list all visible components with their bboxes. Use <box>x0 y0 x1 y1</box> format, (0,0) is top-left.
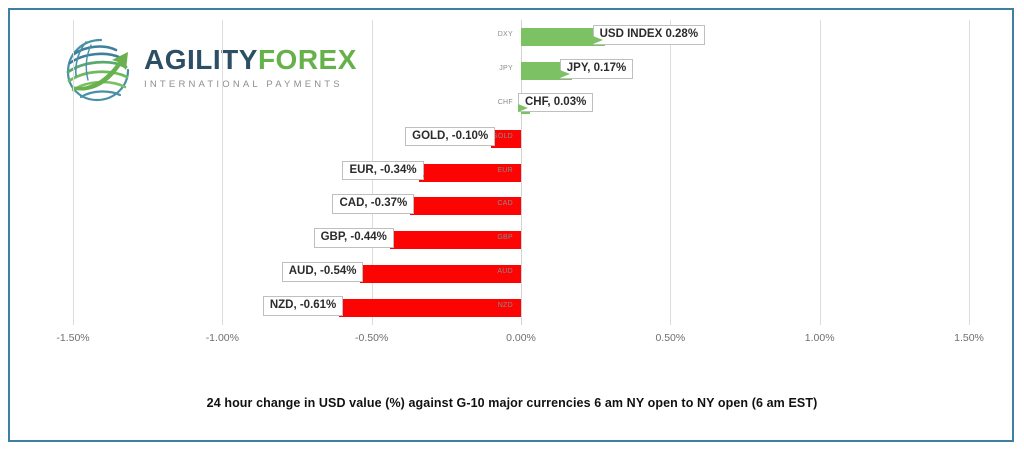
chart-row: EUREUR, -0.34% <box>73 156 969 190</box>
category-label-eur: EUR <box>473 167 513 174</box>
x-tick-label: 0.00% <box>506 332 536 344</box>
x-tick-label: -1.50% <box>56 332 89 344</box>
bar-chart: DXYUSD INDEX 0.28%JPYJPY, 0.17%CHFCHF, 0… <box>0 0 1024 452</box>
x-tick-label: 0.50% <box>655 332 685 344</box>
data-label-chf: CHF, 0.03% <box>518 93 593 113</box>
chart-row: NZDNZD, -0.61% <box>73 291 969 325</box>
x-tick-label: -0.50% <box>355 332 388 344</box>
data-label-cad: CAD, -0.37% <box>332 194 414 214</box>
x-axis: -1.50%-1.00%-0.50%0.00%0.50%1.00%1.50% <box>73 328 969 350</box>
chart-row: CADCAD, -0.37% <box>73 189 969 223</box>
chart-row: GOLDGOLD, -0.10% <box>73 122 969 156</box>
chart-row: JPYJPY, 0.17% <box>73 54 969 88</box>
data-label-eur: EUR, -0.34% <box>342 161 423 181</box>
category-label-aud: AUD <box>473 268 513 275</box>
plot-area: DXYUSD INDEX 0.28%JPYJPY, 0.17%CHFCHF, 0… <box>73 20 969 325</box>
x-tick-label: 1.00% <box>805 332 835 344</box>
chart-row: CHFCHF, 0.03% <box>73 88 969 122</box>
chart-row: DXYUSD INDEX 0.28% <box>73 20 969 54</box>
gridline <box>969 20 970 325</box>
data-label-jpy: JPY, 0.17% <box>560 59 633 79</box>
category-label-cad: CAD <box>473 200 513 207</box>
chart-caption: 24 hour change in USD value (%) against … <box>0 396 1024 410</box>
chart-row: GBPGBP, -0.44% <box>73 223 969 257</box>
x-tick-label: -1.00% <box>206 332 239 344</box>
chart-screenshot: AGILITYFOREX INTERNATIONAL PAYMENTS DXYU… <box>0 0 1024 452</box>
data-label-aud: AUD, -0.54% <box>282 262 364 282</box>
data-label-gbp: GBP, -0.44% <box>314 228 394 248</box>
x-tick-label: 1.50% <box>954 332 984 344</box>
category-label-jpy: JPY <box>473 65 513 72</box>
chart-row: AUDAUD, -0.54% <box>73 257 969 291</box>
data-label-gold: GOLD, -0.10% <box>405 127 495 147</box>
data-label-dxy: USD INDEX 0.28% <box>593 25 705 45</box>
category-label-gbp: GBP <box>473 234 513 241</box>
category-label-dxy: DXY <box>473 31 513 38</box>
category-label-chf: CHF <box>473 99 513 106</box>
category-label-nzd: NZD <box>473 302 513 309</box>
data-label-nzd: NZD, -0.61% <box>263 296 343 316</box>
